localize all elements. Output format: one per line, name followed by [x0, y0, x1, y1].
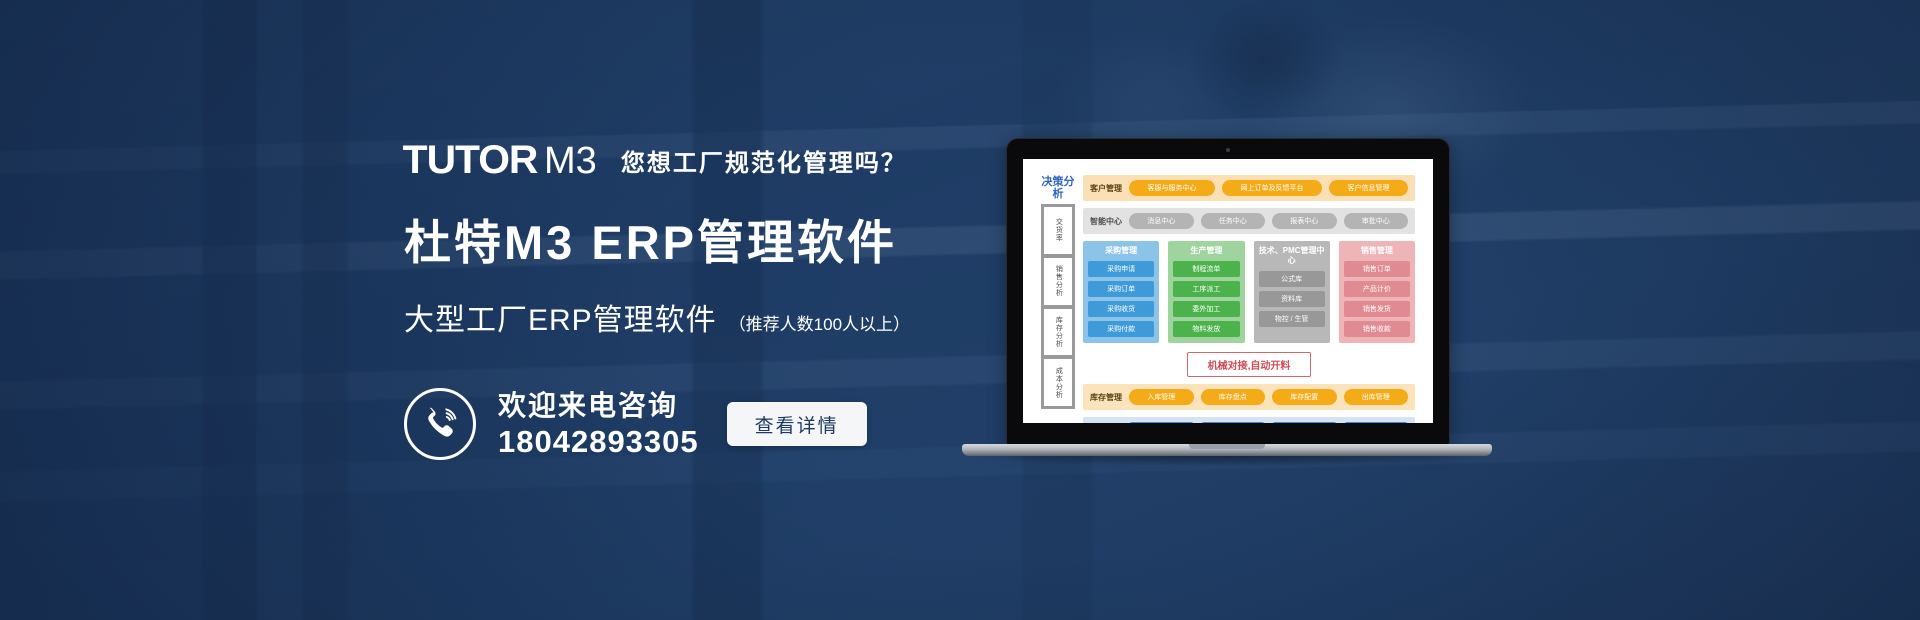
- erp-sidebar-item-2[interactable]: 库存分析: [1044, 309, 1072, 356]
- erp-main: 客户管理 客服与服务中心 网上订单及反馈平台 客户信息管理 智能中心 消息中心 …: [1083, 175, 1415, 409]
- view-details-button[interactable]: 查看详情: [727, 402, 867, 446]
- erp-pill-inventory-3[interactable]: 出库管理: [1344, 389, 1409, 405]
- erp-pill-inventory-2[interactable]: 库存配置: [1272, 389, 1337, 405]
- erp-column-production-title: 生产管理: [1173, 246, 1239, 256]
- erp-sidebar-item-3[interactable]: 成本分析: [1044, 359, 1072, 406]
- phone-welcome-label: 欢迎来电咨询: [498, 392, 699, 420]
- erp-box-sales-0[interactable]: 销售订单: [1344, 261, 1410, 277]
- erp-sidebar-title: 决策分析: [1041, 175, 1075, 204]
- erp-strip-smart-center: 智能中心 消息中心 任务中心 报表中心 审批中心: [1083, 208, 1415, 234]
- hero-subtitle-note: （推荐人数100人以上）: [729, 310, 910, 335]
- erp-column-sales: 销售管理 销售订单 产品计价 销售发货 销售收款: [1339, 241, 1415, 343]
- erp-sidebar-item-1[interactable]: 销售分析: [1044, 258, 1072, 305]
- erp-column-tech-pmc-title: 技术、PMC管理中心: [1259, 246, 1325, 266]
- erp-box-tech-2[interactable]: 物控 / 生管: [1259, 311, 1325, 327]
- erp-column-sales-title: 销售管理: [1344, 246, 1410, 256]
- erp-box-production-1[interactable]: 工序派工: [1173, 281, 1239, 297]
- erp-box-sales-2[interactable]: 销售发货: [1344, 301, 1410, 317]
- erp-box-tech-0[interactable]: 公式库: [1259, 271, 1325, 287]
- erp-callout-machine-integration: 机械对接,自动开料: [1187, 352, 1312, 377]
- erp-column-production: 生产管理 制程流单 工序派工 委外加工 物料发放: [1168, 241, 1244, 343]
- phone-number: 18042893305: [498, 426, 699, 457]
- laptop-drop-shadow: [972, 456, 1482, 466]
- erp-column-tech-pmc: 技术、PMC管理中心 公式库 资料库 物控 / 生管: [1254, 241, 1330, 343]
- brand-logo-m3: M3: [544, 140, 597, 183]
- hero-subtitle-main: 大型工厂ERP管理软件: [404, 295, 717, 339]
- erp-pill-customer-1[interactable]: 网上订单及反馈平台: [1222, 180, 1322, 196]
- erp-box-sales-1[interactable]: 产品计价: [1344, 281, 1410, 297]
- erp-strip-smart-center-label: 智能中心: [1090, 216, 1122, 227]
- brand-tagline: 您想工厂规范化管理吗？: [621, 143, 907, 178]
- laptop-camera-icon: [1226, 148, 1230, 152]
- laptop-base-notch: [1189, 444, 1265, 449]
- erp-strip-inventory-label: 库存管理: [1090, 392, 1122, 403]
- laptop-screen: 决策分析 交货率 销售分析 库存分析 成本分析 客户管理: [1023, 159, 1433, 423]
- erp-strip-inventory: 库存管理 入库管理 库存盘点 库存配置 出库管理: [1083, 384, 1415, 410]
- cta-row: 欢迎来电咨询 18042893305 查看详情: [404, 388, 867, 460]
- erp-strip-customer-label: 客户管理: [1090, 183, 1122, 194]
- erp-pill-smart-3[interactable]: 审批中心: [1344, 213, 1409, 229]
- erp-columns: 采购管理 采购申请 采购订单 采购收货 采购付款 生产管理 制程流单 工序派工 …: [1083, 241, 1415, 343]
- brand-logo-tutor: TUTOR: [403, 138, 538, 183]
- erp-pill-smart-2[interactable]: 报表中心: [1272, 213, 1337, 229]
- erp-box-purchasing-0[interactable]: 采购申请: [1088, 261, 1154, 277]
- erp-column-purchasing-title: 采购管理: [1088, 246, 1154, 256]
- erp-box-production-2[interactable]: 委外加工: [1173, 301, 1239, 317]
- erp-box-production-0[interactable]: 制程流单: [1173, 261, 1239, 277]
- hero-banner: TUTOR M3 您想工厂规范化管理吗？ 杜特M3 ERP管理软件 大型工厂ER…: [0, 0, 1920, 620]
- phone-text-block: 欢迎来电咨询 18042893305: [498, 392, 699, 457]
- erp-sidebar-track: 交货率 销售分析 库存分析 成本分析: [1041, 204, 1075, 409]
- erp-pill-finance-2[interactable]: 计件工资: [1272, 422, 1337, 423]
- erp-pill-customer-0[interactable]: 客服与服务中心: [1129, 180, 1215, 196]
- laptop-lid: 决策分析 交货率 销售分析 库存分析 成本分析 客户管理: [1006, 138, 1450, 446]
- erp-pill-finance-0[interactable]: 凭证管理: [1129, 422, 1194, 423]
- erp-box-purchasing-3[interactable]: 采购付款: [1088, 321, 1154, 337]
- laptop-mockup: 决策分析 交货率 销售分析 库存分析 成本分析 客户管理: [962, 138, 1492, 478]
- erp-strip-customer: 客户管理 客服与服务中心 网上订单及反馈平台 客户信息管理: [1083, 175, 1415, 201]
- phone-call-icon: [404, 388, 476, 460]
- erp-pill-smart-0[interactable]: 消息中心: [1129, 213, 1194, 229]
- erp-architecture-diagram: 决策分析 交货率 销售分析 库存分析 成本分析 客户管理: [1023, 159, 1433, 423]
- erp-pill-finance-1[interactable]: 财务报表: [1201, 422, 1266, 423]
- erp-column-purchasing: 采购管理 采购申请 采购订单 采购收货 采购付款: [1083, 241, 1159, 343]
- erp-pill-inventory-1[interactable]: 库存盘点: [1201, 389, 1266, 405]
- erp-box-production-3[interactable]: 物料发放: [1173, 321, 1239, 337]
- erp-pill-finance-3[interactable]: 费用核算: [1344, 422, 1409, 423]
- erp-box-purchasing-1[interactable]: 采购订单: [1088, 281, 1154, 297]
- erp-sidebar: 决策分析 交货率 销售分析 库存分析 成本分析: [1041, 175, 1075, 409]
- erp-pill-smart-1[interactable]: 任务中心: [1201, 213, 1266, 229]
- erp-box-purchasing-2[interactable]: 采购收货: [1088, 301, 1154, 317]
- erp-pill-customer-2[interactable]: 客户信息管理: [1329, 180, 1408, 196]
- erp-pill-inventory-0[interactable]: 入库管理: [1129, 389, 1194, 405]
- erp-box-tech-1[interactable]: 资料库: [1259, 291, 1325, 307]
- erp-callout-wrap: 机械对接,自动开料: [1083, 350, 1415, 377]
- erp-sidebar-item-0[interactable]: 交货率: [1044, 207, 1072, 254]
- erp-strip-finance: 财务管理 凭证管理 财务报表 计件工资 费用核算: [1083, 417, 1415, 423]
- erp-box-sales-3[interactable]: 销售收款: [1344, 321, 1410, 337]
